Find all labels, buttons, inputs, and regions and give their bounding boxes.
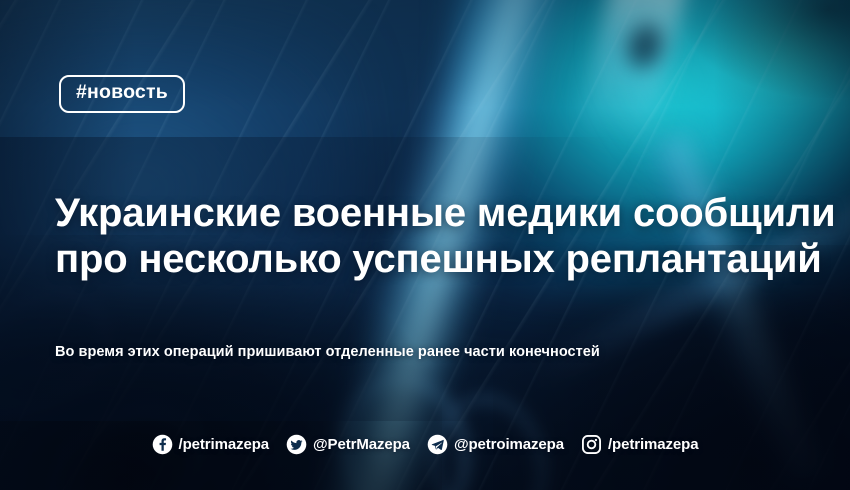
social-link-instagram[interactable]: /petrimazepa bbox=[581, 434, 699, 455]
headline-line-2: про несколько успешных реплантаций bbox=[55, 236, 715, 282]
social-links-bar: /petrimazepa @PetrMazepa bbox=[0, 434, 850, 455]
facebook-icon bbox=[152, 434, 173, 455]
social-link-twitter[interactable]: @PetrMazepa bbox=[286, 434, 410, 455]
news-card: #новость Украинские военные медики сообщ… bbox=[0, 0, 850, 490]
card-content: #новость Украинские военные медики сообщ… bbox=[0, 0, 850, 490]
page-title: Украинские военные медики сообщили про н… bbox=[55, 190, 715, 282]
telegram-icon bbox=[427, 434, 448, 455]
category-badge[interactable]: #новость bbox=[59, 75, 185, 113]
social-handle-telegram: @petroimazepa bbox=[454, 437, 564, 453]
social-link-telegram[interactable]: @petroimazepa bbox=[427, 434, 564, 455]
subtitle: Во время этих операций пришивают отделен… bbox=[55, 343, 755, 362]
social-handle-twitter: @PetrMazepa bbox=[313, 437, 410, 453]
headline-line-1: Украинские военные медики сообщили bbox=[55, 190, 715, 236]
instagram-icon bbox=[581, 434, 602, 455]
social-handle-instagram: /petrimazepa bbox=[608, 437, 699, 453]
social-handle-facebook: /petrimazepa bbox=[179, 437, 270, 453]
social-link-facebook[interactable]: /petrimazepa bbox=[152, 434, 270, 455]
twitter-icon bbox=[286, 434, 307, 455]
